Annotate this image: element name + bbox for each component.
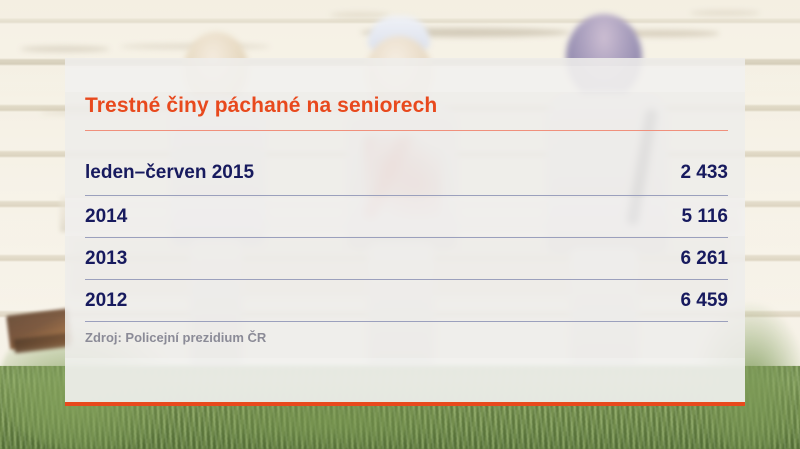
row-value: 2 433 [680, 162, 728, 184]
page-title: Trestné činy páchané na seniorech [85, 94, 437, 118]
data-table: leden–červen 2015 2 433 2014 5 116 2013 … [85, 151, 728, 322]
statistics-panel: Trestné činy páchané na seniorech leden–… [65, 58, 745, 406]
table-row: leden–červen 2015 2 433 [85, 151, 728, 196]
source-note: Zdroj: Policejní prezidium ČR [85, 330, 266, 345]
table-row: 2012 6 459 [85, 280, 728, 322]
wall-stain [20, 46, 110, 52]
row-label: 2012 [85, 290, 127, 312]
table-row: 2014 5 116 [85, 196, 728, 238]
row-value: 5 116 [682, 206, 729, 228]
graphic-stage: Trestné činy páchané na seniorech leden–… [0, 0, 800, 449]
row-label: 2014 [85, 206, 127, 228]
row-value: 6 261 [680, 248, 728, 270]
title-underline [85, 130, 728, 131]
wall-stain [690, 10, 760, 16]
row-label: leden–červen 2015 [85, 162, 254, 184]
row-value: 6 459 [680, 290, 728, 312]
table-row: 2013 6 261 [85, 238, 728, 280]
row-label: 2013 [85, 248, 127, 270]
